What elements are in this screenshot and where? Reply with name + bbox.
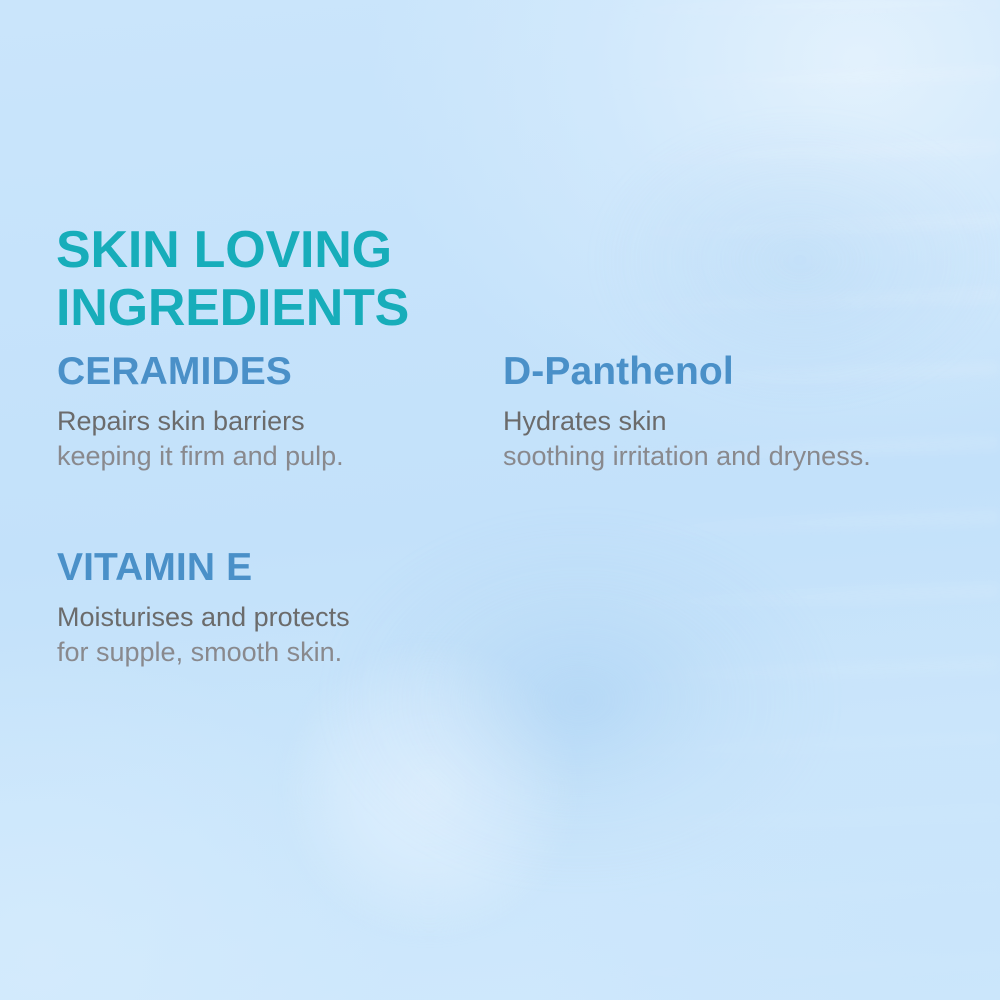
ingredient-description-d-panthenol: Hydrates skin soothing irritation and dr… [503,404,903,474]
ingredient-benefit-primary-ceramides: Repairs skin barriers [57,404,487,439]
page-title-line-1: SKIN LOVING [56,221,576,279]
ingredient-name-d-panthenol: D-Panthenol [503,352,903,393]
ingredient-description-ceramides: Repairs skin barriers keeping it firm an… [57,404,487,474]
ingredient-description-vitamin-e: Moisturises and protects for supple, smo… [57,600,527,670]
ingredient-benefit-secondary-d-panthenol: soothing irritation and dryness. [503,439,903,474]
page-title: SKIN LOVING INGREDIENTS [56,221,576,337]
ingredient-benefit-secondary-vitamin-e: for supple, smooth skin. [57,635,527,670]
ingredients-infographic: SKIN LOVING INGREDIENTS CERAMIDES Repair… [0,0,1000,1000]
ingredient-block-d-panthenol: D-Panthenol Hydrates skin soothing irrit… [503,352,903,474]
content-layer: SKIN LOVING INGREDIENTS CERAMIDES Repair… [0,0,1000,1000]
ingredient-benefit-primary-vitamin-e: Moisturises and protects [57,600,527,635]
ingredient-block-ceramides: CERAMIDES Repairs skin barriers keeping … [57,352,487,474]
ingredient-benefit-secondary-ceramides: keeping it firm and pulp. [57,439,487,474]
ingredient-name-vitamin-e: VITAMIN E [57,548,527,589]
ingredient-name-ceramides: CERAMIDES [57,352,487,393]
ingredient-benefit-primary-d-panthenol: Hydrates skin [503,404,903,439]
ingredient-block-vitamin-e: VITAMIN E Moisturises and protects for s… [57,548,527,670]
page-title-line-2: INGREDIENTS [56,279,576,337]
